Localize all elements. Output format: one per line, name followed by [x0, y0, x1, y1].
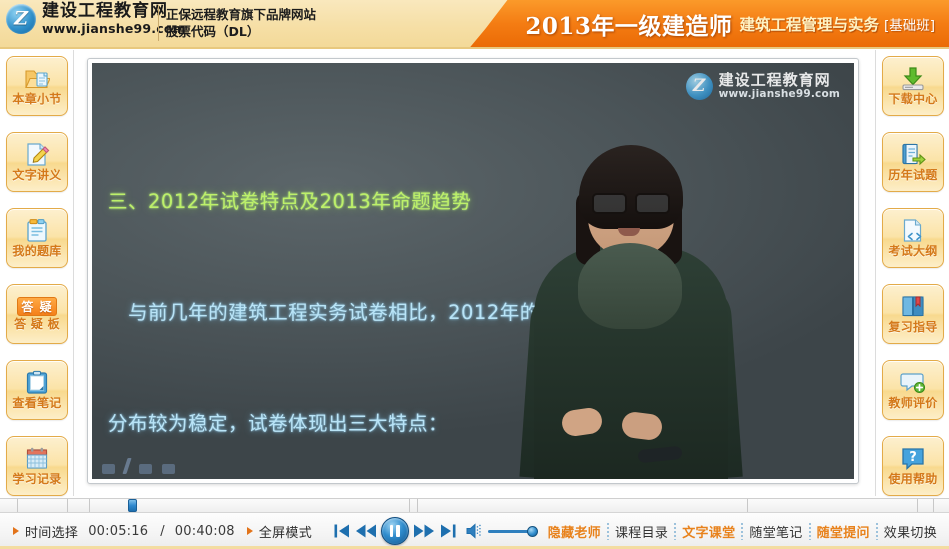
menu-item-class-questions[interactable]: 随堂提问	[811, 522, 876, 541]
book-arrow-icon	[900, 142, 926, 167]
dayi-badge-icon: 答 疑	[17, 297, 57, 316]
course-class: [基础班]	[884, 14, 935, 34]
corner-mark-icon	[122, 458, 131, 474]
course-name: 建筑工程管理与实务	[739, 13, 879, 35]
player-page: 建设工程教育网 www.jianshe99.com 正保远程教育旗下品牌网站 股…	[0, 0, 949, 549]
teacher-glasses	[592, 193, 670, 211]
watermark-name: 建设工程教育网	[719, 73, 840, 88]
seek-segment[interactable]	[418, 499, 748, 512]
hide-teacher-button[interactable]: 隐藏老师	[542, 522, 607, 541]
page-header: 建设工程教育网 www.jianshe99.com 正保远程教育旗下品牌网站 股…	[0, 0, 949, 48]
folder-document-icon	[24, 66, 50, 91]
fast-forward-icon[interactable]	[413, 522, 435, 540]
brand-url: www.jianshe99.com	[42, 22, 186, 35]
sidebar-item-qa-board[interactable]: 答 疑 答 疑 板	[6, 284, 68, 344]
header-separator	[0, 47, 949, 49]
sidebar-item-label: 使用帮助	[888, 473, 937, 486]
player-menu: 课程目录 文字课堂 随堂笔记 随堂提问 效果切换	[607, 522, 943, 541]
document-code-icon	[900, 218, 926, 243]
current-time: 00:05:16	[88, 524, 148, 539]
sidebar-item-my-question-bank[interactable]: 我的题库	[6, 208, 68, 268]
teacher-figure	[526, 149, 736, 479]
seek-segment[interactable]	[90, 499, 410, 512]
skip-next-icon[interactable]	[439, 522, 457, 540]
sidebar-item-label: 下载中心	[888, 93, 937, 106]
brand-text: 建设工程教育网 www.jianshe99.com	[42, 3, 186, 35]
video-player[interactable]: 三、2012年试卷特点及2013年命题趋势 与前几年的建筑工程实务试卷相比，20…	[92, 63, 854, 479]
sidebar-item-label: 复习指导	[888, 321, 937, 334]
sidebar-item-label: 文字讲义	[12, 169, 61, 182]
volume-slider-track[interactable]	[488, 530, 530, 533]
brand-name: 建设工程教育网	[42, 3, 186, 21]
svg-text:?: ?	[909, 450, 917, 465]
skip-previous-icon[interactable]	[333, 522, 351, 540]
calendar-icon	[24, 446, 50, 471]
video-watermark: 建设工程教育网 www.jianshe99.com	[686, 73, 840, 100]
left-sidebar: 本章小节 文字讲义	[0, 50, 74, 496]
video-frame: 三、2012年试卷特点及2013年命题趋势 与前几年的建筑工程实务试卷相比，20…	[87, 58, 859, 484]
sidebar-item-chapter-sections[interactable]: 本章小节	[6, 56, 68, 116]
watermark-url: www.jianshe99.com	[719, 88, 840, 100]
sidebar-item-usage-help[interactable]: ? 使用帮助	[882, 436, 944, 496]
seek-segment[interactable]	[918, 499, 934, 512]
right-sidebar: 下载中心 历年试题 考试大纲	[875, 50, 949, 496]
rewind-icon[interactable]	[355, 522, 377, 540]
document-pencil-icon	[24, 142, 50, 167]
seek-handle[interactable]	[128, 499, 137, 512]
brand-subtitle: 正保远程教育旗下品牌网站 股票代码（DL）	[166, 6, 316, 40]
sidebar-item-exam-syllabus[interactable]: 考试大纲	[882, 208, 944, 268]
sidebar-item-view-notes[interactable]: 查看笔记	[6, 360, 68, 420]
seek-segment[interactable]	[410, 499, 418, 512]
sidebar-item-past-exams[interactable]: 历年试题	[882, 132, 944, 192]
clipboard-lines-icon	[24, 218, 50, 243]
volume-icon[interactable]	[465, 522, 485, 540]
site-logo-icon	[6, 4, 36, 34]
brand-subtitle-line1: 正保远程教育旗下品牌网站	[166, 6, 316, 23]
fullscreen-button[interactable]: 全屏模式	[259, 522, 312, 541]
watermark-logo-icon	[686, 73, 713, 100]
video-stage: 三、2012年试卷特点及2013年命题趋势 与前几年的建筑工程实务试卷相比，20…	[75, 50, 873, 496]
sidebar-item-label: 教师评价	[888, 397, 937, 410]
menu-item-class-notes[interactable]: 随堂笔记	[743, 522, 808, 541]
question-bubble-icon: ?	[900, 446, 926, 471]
volume-control[interactable]	[465, 522, 538, 540]
watermark-text: 建设工程教育网 www.jianshe99.com	[719, 73, 840, 100]
sidebar-item-review-guide[interactable]: 复习指导	[882, 284, 944, 344]
brand-divider	[158, 5, 159, 41]
seek-segment[interactable]	[18, 499, 68, 512]
course-year: 2013年一级建造师	[525, 7, 732, 41]
seek-segment[interactable]	[0, 499, 18, 512]
triangle-marker-icon	[13, 527, 19, 535]
corner-mark-icon	[162, 464, 175, 474]
volume-slider-knob[interactable]	[527, 526, 538, 537]
corner-mark-icon	[102, 464, 115, 474]
triangle-marker-icon	[247, 527, 253, 535]
controls-left-group: 时间选择 00:05:16 / 00:40:08 全屏模式	[0, 522, 312, 541]
menu-item-text-classroom[interactable]: 文字课堂	[676, 522, 741, 541]
teacher-hair	[579, 145, 683, 229]
sidebar-item-label: 考试大纲	[888, 245, 937, 258]
menu-item-course-catalog[interactable]: 课程目录	[609, 522, 674, 541]
sidebar-item-study-record[interactable]: 学习记录	[6, 436, 68, 496]
corner-mark-icon	[139, 464, 152, 474]
sidebar-item-teacher-rating[interactable]: 教师评价	[882, 360, 944, 420]
menu-item-effect-switch[interactable]: 效果切换	[878, 522, 943, 541]
course-banner: 2013年一级建造师 建筑工程管理与实务 [基础班]	[469, 0, 949, 48]
speech-bubble-plus-icon	[900, 370, 926, 395]
sidebar-item-label: 查看笔记	[12, 397, 61, 410]
total-time: 00:40:08	[175, 524, 235, 539]
player-controls: 时间选择 00:05:16 / 00:40:08 全屏模式	[0, 513, 949, 549]
book-bookmark-icon	[900, 294, 926, 319]
sidebar-item-label: 历年试题	[888, 169, 937, 182]
video-corner-marks	[102, 458, 175, 474]
sidebar-item-label: 学习记录	[12, 473, 61, 486]
sidebar-item-download-center[interactable]: 下载中心	[882, 56, 944, 116]
time-select-button[interactable]: 时间选择	[25, 522, 78, 541]
progress-seekbar[interactable]	[0, 498, 949, 513]
download-arrow-icon	[900, 66, 926, 91]
brand-subtitle-line2: 股票代码（DL）	[166, 23, 316, 40]
seek-segment[interactable]	[748, 499, 918, 512]
transport-controls	[333, 517, 457, 545]
sidebar-item-label: 答 疑 板	[14, 318, 60, 331]
seek-segment[interactable]	[68, 499, 90, 512]
sidebar-item-text-lecture[interactable]: 文字讲义	[6, 132, 68, 192]
sidebar-item-label: 我的题库	[12, 245, 61, 258]
controls-right-group: 隐藏老师 课程目录 文字课堂 随堂笔记 随堂提问 效果切换	[333, 517, 949, 545]
pause-bars	[390, 525, 400, 537]
time-separator: /	[160, 524, 165, 539]
sidebar-item-label: 本章小节	[12, 93, 61, 106]
pause-icon[interactable]	[381, 517, 409, 545]
notes-clipboard-icon	[24, 370, 50, 395]
teacher-scarf	[578, 243, 682, 329]
